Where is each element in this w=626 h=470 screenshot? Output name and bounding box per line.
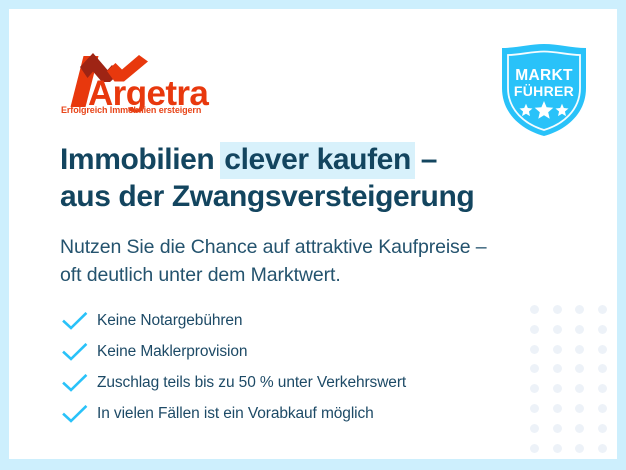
dot <box>598 424 607 433</box>
dot <box>530 404 539 413</box>
headline-line-2: aus der Zwangsversteigerung <box>60 179 474 216</box>
list-item: In vielen Fällen ist ein Vorabkauf mögli… <box>62 398 406 429</box>
dot <box>553 384 562 393</box>
dot <box>575 305 584 314</box>
dot <box>598 305 607 314</box>
dot <box>530 444 539 453</box>
headline-line-1: Immobilien clever kaufen – <box>60 143 437 176</box>
subheadline: Nutzen Sie die Chance auf attraktive Kau… <box>60 233 487 290</box>
dot <box>598 325 607 334</box>
dot <box>530 305 539 314</box>
dot <box>553 345 562 354</box>
checkmark-icon <box>62 374 88 392</box>
subheadline-line-2: oft deutlich unter dem Marktwert. <box>60 261 487 289</box>
list-item: Keine Notargebühren <box>62 305 406 336</box>
badge-line-markt: MARKT <box>498 68 590 84</box>
logo-tagline: Erfolgreich Immobilien ersteigern <box>61 105 201 115</box>
checkmark-icon <box>62 343 88 361</box>
dot <box>530 345 539 354</box>
star-icon <box>534 100 554 120</box>
list-item-label: In vielen Fällen ist ein Vorabkauf mögli… <box>97 405 374 423</box>
dot-grid-decoration <box>530 305 617 435</box>
dot <box>575 364 584 373</box>
headline-highlight: clever kaufen <box>220 142 415 179</box>
list-item-label: Keine Notargebühren <box>97 312 242 330</box>
headline-text-post: – <box>413 143 437 176</box>
checkmark-icon <box>62 405 88 423</box>
advertisement-banner: Argetra Erfolgreich Immobilien ersteiger… <box>0 0 626 470</box>
dot <box>575 424 584 433</box>
star-icon <box>519 103 533 117</box>
benefits-list: Keine Notargebühren Keine Maklerprovisio… <box>62 305 406 429</box>
list-item: Zuschlag teils bis zu 50 % unter Verkehr… <box>62 367 406 398</box>
argetra-logo[interactable]: Argetra Erfolgreich Immobilien ersteiger… <box>60 51 220 117</box>
dot <box>575 384 584 393</box>
list-item-label: Zuschlag teils bis zu 50 % unter Verkehr… <box>97 374 406 392</box>
dot <box>530 384 539 393</box>
dot <box>553 424 562 433</box>
headline: Immobilien clever kaufen – aus der Zwang… <box>60 142 474 215</box>
dot <box>530 364 539 373</box>
star-icon <box>555 103 569 117</box>
dot <box>575 404 584 413</box>
dot <box>598 404 607 413</box>
badge-line-fuehrer: FÜHRER <box>498 84 590 98</box>
checkmark-icon <box>62 312 88 330</box>
three-stars-icon <box>498 100 590 120</box>
dot <box>598 444 607 453</box>
list-item: Keine Maklerprovision <box>62 336 406 367</box>
dot <box>553 444 562 453</box>
dot <box>598 345 607 354</box>
headline-text-pre: Immobilien <box>60 143 222 176</box>
banner-card: Argetra Erfolgreich Immobilien ersteiger… <box>9 9 617 459</box>
dot <box>598 364 607 373</box>
dot <box>575 345 584 354</box>
dot <box>530 424 539 433</box>
dot <box>553 404 562 413</box>
list-item-label: Keine Maklerprovision <box>97 343 247 361</box>
subheadline-line-1: Nutzen Sie die Chance auf attraktive Kau… <box>60 233 487 261</box>
market-leader-badge: MARKT FÜHRER <box>498 42 590 138</box>
dot <box>553 305 562 314</box>
dot <box>575 325 584 334</box>
dot <box>575 444 584 453</box>
dot <box>598 384 607 393</box>
dot <box>530 325 539 334</box>
dot <box>553 325 562 334</box>
dot <box>553 364 562 373</box>
